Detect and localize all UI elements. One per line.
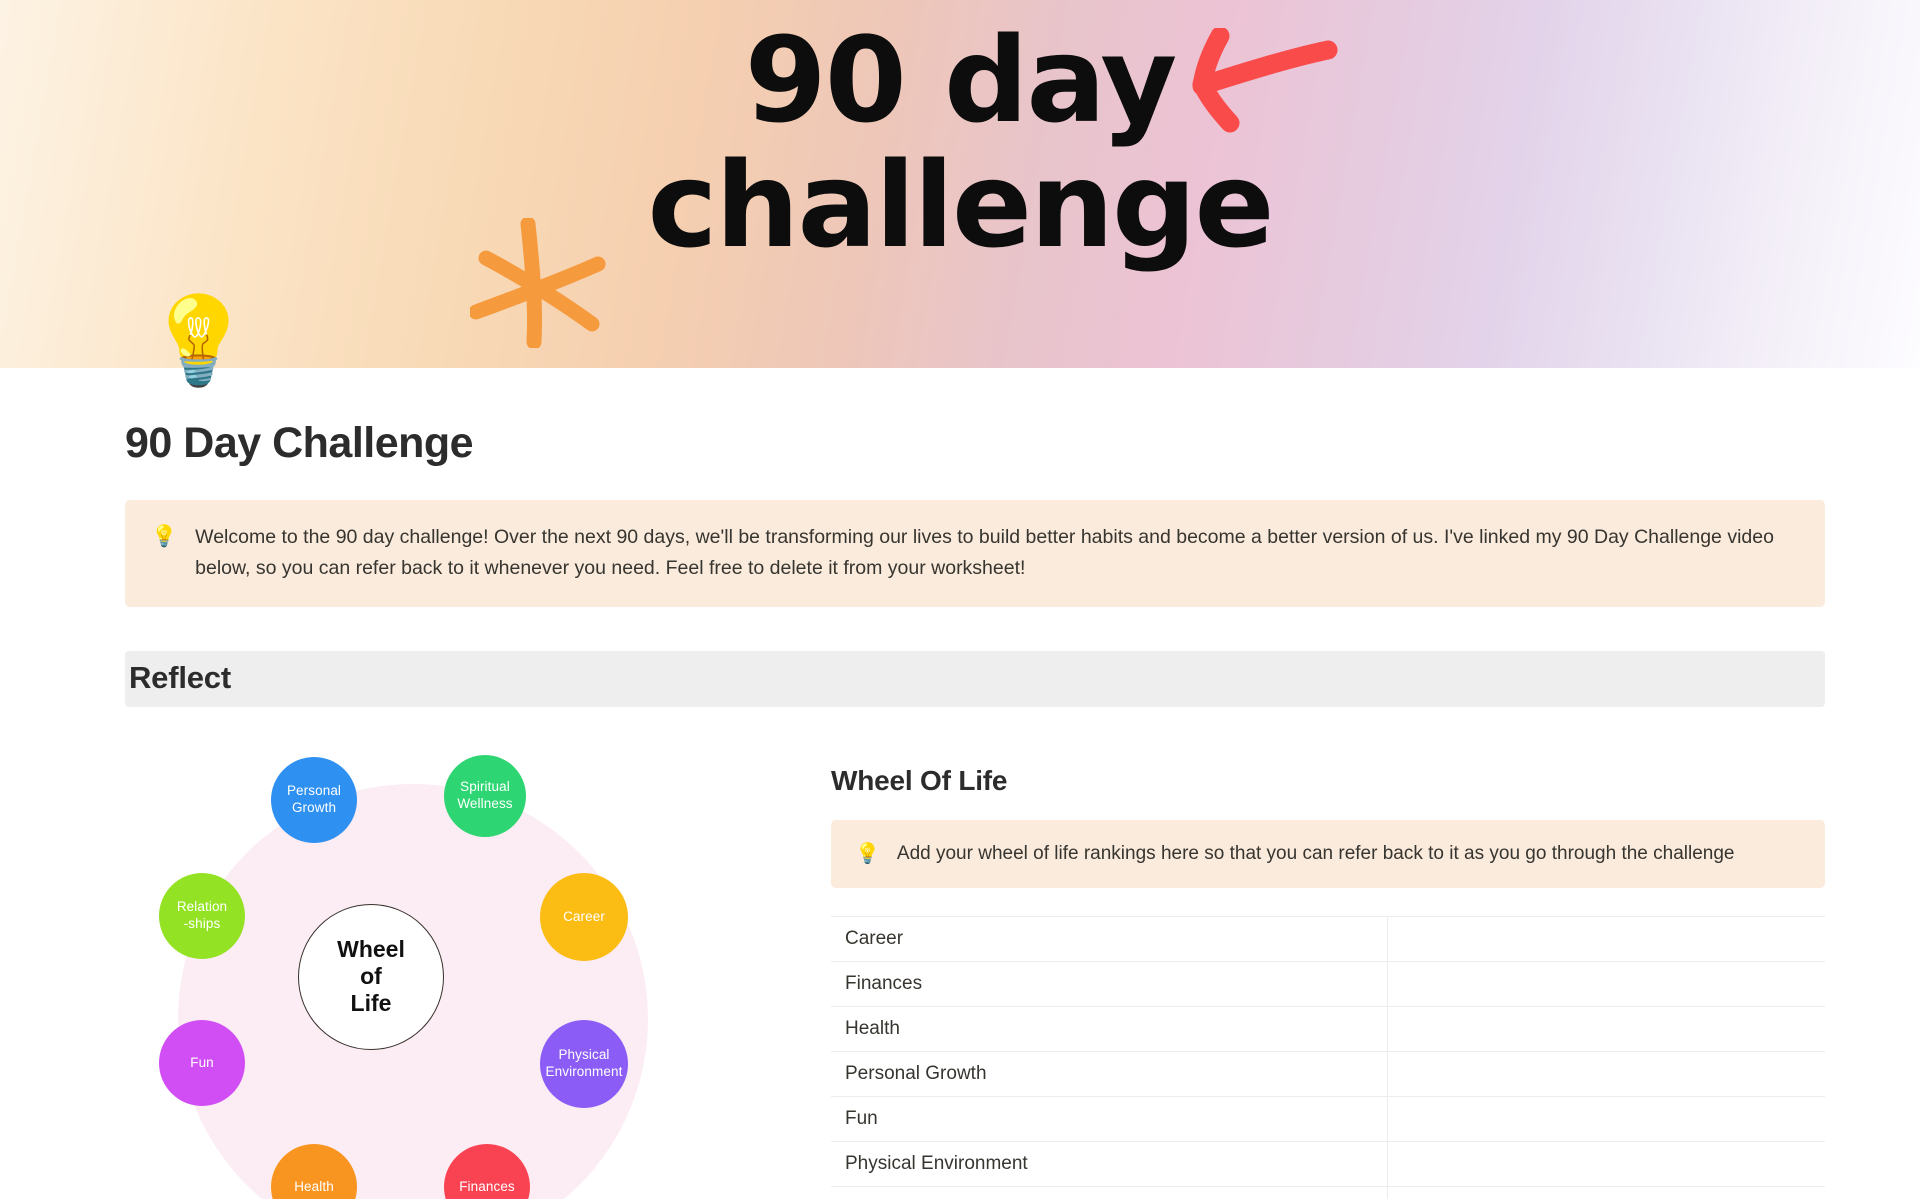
wheel-node-spiritual-wellness[interactable]: SpiritualWellness: [444, 755, 526, 837]
wheel-node-label-line2: Wellness: [457, 796, 512, 811]
table-cell-value[interactable]: [1388, 1052, 1825, 1097]
table-cell-value[interactable]: [1388, 1097, 1825, 1142]
wheel-node-label-line1: Health: [294, 1179, 334, 1194]
wheel-node-label-line1: Spiritual: [460, 779, 510, 794]
table-cell-label[interactable]: Career: [831, 917, 1388, 962]
banner-title-line2: challenge: [0, 143, 1920, 268]
table-body: Career Finances Health Personal Gro: [831, 917, 1825, 1199]
table-row[interactable]: Fun: [831, 1097, 1825, 1142]
wheel-of-life-callout-text: Add your wheel of life rankings here so …: [897, 840, 1735, 869]
section-heading-reflect[interactable]: Reflect: [125, 651, 1825, 707]
page-icon-lightbulb[interactable]: 💡: [145, 298, 252, 384]
wheel-node-career[interactable]: Career: [540, 873, 628, 961]
wheel-center-label: Wheel of Life: [298, 904, 444, 1050]
wheel-center-line2: of: [360, 963, 382, 989]
banner-title-line1: 90 day: [0, 18, 1920, 143]
wheel-center-line1: Wheel: [337, 936, 405, 962]
lightbulb-icon: 💡: [855, 840, 880, 868]
table-cell-label[interactable]: Personal Growth: [831, 1052, 1388, 1097]
content-wrap: 90 Day Challenge 💡 Welcome to the 90 day…: [125, 420, 1825, 1199]
table-row[interactable]: Health: [831, 1007, 1825, 1052]
wheel-of-life-callout[interactable]: 💡 Add your wheel of life rankings here s…: [831, 820, 1825, 889]
hand-drawn-star-icon: [470, 218, 640, 348]
table-row[interactable]: Relationships: [831, 1187, 1825, 1199]
table-cell-label[interactable]: Health: [831, 1007, 1388, 1052]
table-row[interactable]: Finances: [831, 962, 1825, 1007]
table-cell-label[interactable]: Physical Environment: [831, 1142, 1388, 1187]
table-row[interactable]: Physical Environment: [831, 1142, 1825, 1187]
table-row[interactable]: Career: [831, 917, 1825, 962]
table-cell-label[interactable]: Relationships: [831, 1187, 1388, 1199]
table-cell-value[interactable]: [1388, 962, 1825, 1007]
wheel-node-label-line2: -ships: [184, 916, 221, 931]
hand-drawn-arrow-icon: [1160, 28, 1340, 138]
intro-callout[interactable]: 💡 Welcome to the 90 day challenge! Over …: [125, 500, 1825, 606]
wheel-node-label-line1: Fun: [190, 1055, 214, 1070]
banner-title: 90 day challenge: [0, 18, 1920, 268]
wheel-node-label-line2: Growth: [292, 800, 336, 815]
banner-inner: 90 day challenge: [0, 0, 1920, 368]
reflect-columns: Wheel of Life PersonalGrowth SpiritualWe…: [125, 737, 1825, 1199]
wheel-node-personal-growth[interactable]: PersonalGrowth: [271, 757, 357, 843]
page-content: 90 Day Challenge 💡 Welcome to the 90 day…: [0, 420, 1920, 1199]
wheel-node-label-line1: Physical: [558, 1047, 609, 1062]
wheel-of-life-diagram: Wheel of Life PersonalGrowth SpiritualWe…: [143, 749, 703, 1199]
page-cover-banner[interactable]: 90 day challenge: [0, 0, 1920, 368]
wheel-node-label-line1: Relation: [177, 899, 227, 914]
wheel-node-physical-environment[interactable]: PhysicalEnvironment: [540, 1020, 628, 1108]
intro-callout-text: Welcome to the 90 day challenge! Over th…: [195, 522, 1775, 582]
wheel-of-life-table: Career Finances Health Personal Gro: [831, 916, 1825, 1199]
table-cell-value[interactable]: [1388, 917, 1825, 962]
wheel-column: Wheel of Life PersonalGrowth SpiritualWe…: [125, 737, 797, 1199]
wheel-node-label-line1: Personal: [287, 783, 341, 798]
wheel-of-life-heading[interactable]: Wheel Of Life: [831, 765, 1825, 797]
table-cell-value[interactable]: [1388, 1187, 1825, 1199]
table-cell-value[interactable]: [1388, 1142, 1825, 1187]
wheel-node-label-line2: Environment: [546, 1064, 623, 1079]
wheel-center-line3: Life: [351, 990, 392, 1016]
wheel-of-life-column: Wheel Of Life 💡 Add your wheel of life r…: [797, 737, 1825, 1199]
table-cell-label[interactable]: Fun: [831, 1097, 1388, 1142]
wheel-node-label-line1: Finances: [459, 1179, 515, 1194]
page-title[interactable]: 90 Day Challenge: [125, 420, 1825, 467]
wheel-node-fun[interactable]: Fun: [159, 1020, 245, 1106]
wheel-node-relationships[interactable]: Relation-ships: [159, 873, 245, 959]
table-cell-value[interactable]: [1388, 1007, 1825, 1052]
table-cell-label[interactable]: Finances: [831, 962, 1388, 1007]
table-row[interactable]: Personal Growth: [831, 1052, 1825, 1097]
lightbulb-icon: 💡: [151, 523, 177, 551]
wheel-node-label-line1: Career: [563, 909, 605, 924]
